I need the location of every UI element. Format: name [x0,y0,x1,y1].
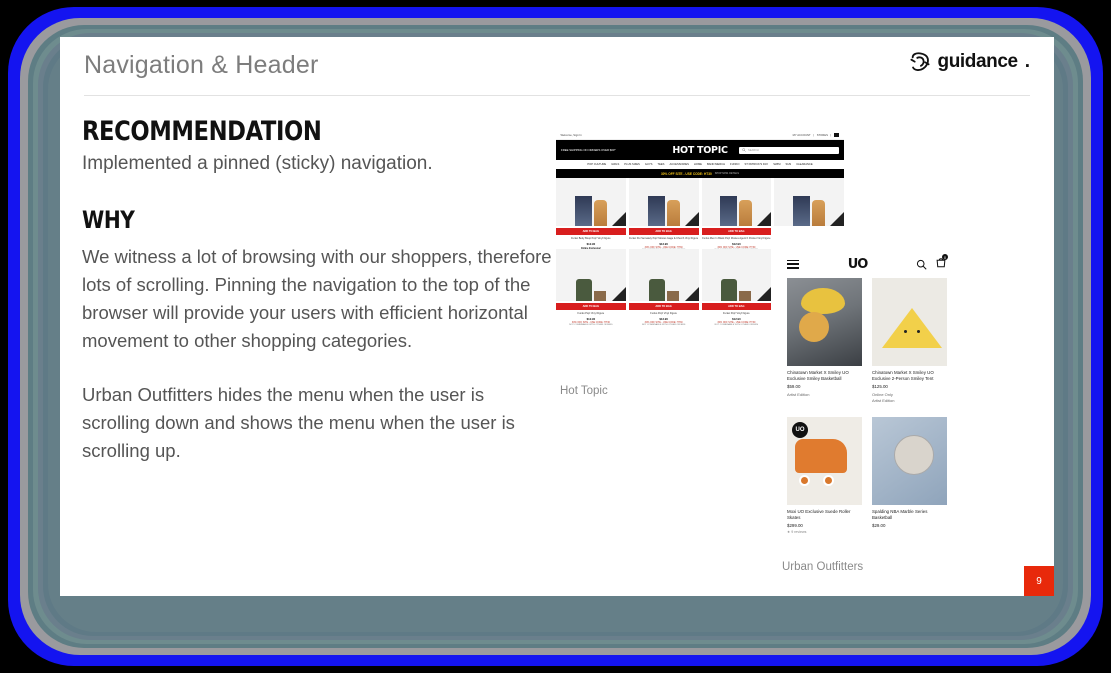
ht-free-shipping-text: FREE SHIPPING ON ORDERS OVER $60* [561,148,616,152]
why-heading: WHY [82,207,477,234]
uo-product-card[interactable]: Spalding NBA Marble Series Basketball $2… [872,417,947,534]
uo-product-name: Chinatown Market X Smiley UO Exclusive 2… [872,370,947,382]
uo-header-actions: 0 [916,255,947,273]
ht-corner-flag-icon [830,212,844,226]
uo-bag-count-badge: 0 [942,254,948,260]
ht-add-to-bag-button[interactable]: ADD TO BAG [556,303,626,310]
caption-hot-topic: Hot Topic [560,385,608,397]
ht-promo-banner[interactable]: 30% OFF SITE - USE CODE: HT30 SHOP NOW. … [556,169,844,178]
ht-add-to-bag-label: ADD TO BAG [655,230,671,233]
uo-product-grid-row-2: UO Moxi UO Exclusive Suede Roller Skates… [778,417,956,534]
ht-promo-details[interactable]: SHOP NOW. DETAILS [715,172,739,175]
ht-nav-item[interactable]: SWIM [773,163,780,166]
recommendation-body: Implemented a pinned (sticky) navigation… [82,151,552,177]
ht-nav-item[interactable]: POP CULTURE [587,163,606,166]
ht-product-name: Funko Men In Black Pop! Movies Agent K P… [702,237,772,240]
ht-search-input[interactable]: SEARCH [739,147,839,154]
ht-nav-item[interactable]: PLUS SIZES [624,163,640,166]
uo-product-tag: Artist Edition [787,392,862,398]
ht-corner-flag-icon [612,212,626,226]
caption-urban-outfitters: Urban Outfitters [782,561,863,573]
guidance-swirl-icon [909,51,931,73]
brand-logo: guidance . [909,51,1031,73]
ht-add-to-bag-label: ADD TO BAG [728,305,744,308]
ht-logo[interactable]: HOT TOPIC [672,145,727,156]
uo-product-name: Chinatown Market X Smiley UO Exclusive S… [787,370,862,382]
header-divider [84,95,1030,96]
ht-product-image [774,178,844,226]
ht-nav-item[interactable]: BAND MERCH [707,163,725,166]
ht-product-name: Funko Pop! Vinyl Figure [556,312,626,315]
uo-product-card[interactable]: Chinatown Market X Smiley UO Exclusive S… [787,278,862,403]
page-number-badge: 9 [1024,566,1054,596]
ht-product-image [702,178,772,226]
uo-product-name: Spalding NBA Marble Series Basketball [872,509,947,521]
ht-my-account-link[interactable]: MY ACCOUNT [792,133,810,136]
uo-product-image [872,417,947,505]
ht-nav-item[interactable]: GUYS [645,163,653,166]
ht-product-card[interactable]: ADD TO BAG Funko Pop! Vinyl Figure $12.9… [702,249,772,326]
uo-product-image: UO [787,417,862,505]
uo-product-price: $59.00 [787,384,862,389]
ht-product-note: NOT COMBINABLE WITH OTHER OFFERS [702,324,772,326]
uo-product-price: $299.00 [787,523,862,528]
ht-nav-item[interactable]: GIRLS [611,163,619,166]
ht-nav-item[interactable]: HOME [694,163,702,166]
uo-product-image [787,278,862,366]
ht-nav-item[interactable]: CLEARANCE [796,163,812,166]
ht-product-card[interactable]: ADD TO BAG Funko Pop! Vinyl Figure $12.9… [629,249,699,326]
ht-search-placeholder: SEARCH [748,149,759,152]
uo-product-card[interactable]: UO Moxi UO Exclusive Suede Roller Skates… [787,417,862,534]
uo-product-price: $125.00 [872,384,947,389]
ht-corner-flag-icon [685,212,699,226]
ht-product-note: NOT COMBINABLE WITH OTHER OFFERS [629,324,699,326]
ht-utility-bar: Welcome, Sign In MY ACCOUNT | STORES | [556,131,844,140]
ht-product-price: $12.90 [556,242,626,246]
uo-product-image [872,278,947,366]
ht-product-card[interactable] [774,178,844,255]
uo-product-reviews: ★ 9 reviews [787,530,862,534]
ht-welcome-text: Welcome, Sign In [560,133,581,136]
ht-product-name: Funko Pet Sematary Pop! Movies Gage & Ch… [629,237,699,240]
ht-product-grid-row-1: ADD TO BAG Funko Betty Boop Pop! Vinyl F… [556,178,844,255]
uo-product-tag: Online Only Artist Edition [872,392,947,403]
urban-outfitters-screenshot: UO 0 [778,250,956,552]
ht-product-image [629,178,699,226]
uo-product-price: $29.00 [872,523,947,528]
page-title: Navigation & Header [84,51,319,80]
copy-column: RECOMMENDATION Implemented a pinned (sti… [82,117,552,465]
recommendation-heading: RECOMMENDATION [82,117,477,147]
ht-product-name: Funko Pop! Vinyl Figure [702,312,772,315]
ht-nav-item[interactable]: ACCESSORIES [669,163,688,166]
ht-add-to-bag-button[interactable]: ADD TO BAG [702,303,772,310]
uo-product-name: Moxi UO Exclusive Suede Roller Skates [787,509,862,521]
ht-masthead: FREE SHIPPING ON ORDERS OVER $60* HOT TO… [556,140,844,160]
ht-product-image [702,249,772,301]
ht-add-to-bag-button[interactable]: ADD TO BAG [629,228,699,235]
screenshot-column: Welcome, Sign In MY ACCOUNT | STORES | F… [556,117,1036,587]
ht-product-note: NOT COMBINABLE WITH OTHER OFFERS [556,324,626,326]
ht-corner-flag-icon [685,287,699,301]
ht-utility-links: MY ACCOUNT | STORES | [793,133,839,137]
why-body-paragraph-1: We witness a lot of browsing with our sh… [82,243,552,355]
search-icon [742,148,746,152]
ht-nav-item[interactable]: SUN [786,163,792,166]
ht-product-card[interactable]: ADD TO BAG Funko Pet Sematary Pop! Movie… [629,178,699,255]
ht-nav-item[interactable]: ST PATRICK'S DAY [744,163,768,166]
ht-add-to-bag-button[interactable]: ADD TO BAG [702,228,772,235]
ht-product-name: Funko Betty Boop Pop! Vinyl Figure [556,237,626,240]
ht-product-image [629,249,699,301]
search-icon[interactable] [916,259,927,270]
uo-brand-badge-icon: UO [792,422,808,438]
ht-corner-flag-icon [757,212,771,226]
uo-product-card[interactable]: Chinatown Market X Smiley UO Exclusive 2… [872,278,947,403]
ht-add-to-bag-button[interactable]: ADD TO BAG [629,303,699,310]
ht-add-to-bag-label: ADD TO BAG [728,230,744,233]
ht-corner-flag-icon [612,287,626,301]
brand-name: guidance [938,51,1018,73]
ht-corner-flag-icon [757,287,771,301]
ht-product-image [556,178,626,226]
hamburger-menu-icon[interactable] [787,260,799,269]
ht-product-card[interactable]: ADD TO BAG Funko Men In Black Pop! Movie… [702,178,772,255]
ht-product-card[interactable]: ADD TO BAG Funko Pop! Vinyl Figure $12.9… [556,249,626,326]
uo-product-grid-row-1: Chinatown Market X Smiley UO Exclusive S… [778,278,956,403]
ht-add-to-bag-label: ADD TO BAG [583,230,599,233]
uo-logo[interactable]: UO [848,257,868,272]
ht-stores-link[interactable]: STORES [816,133,827,136]
ht-add-to-bag-button[interactable]: ADD TO BAG [556,228,626,235]
why-body-paragraph-2: Urban Outfitters hides the menu when the… [82,381,552,465]
ht-add-to-bag-label: ADD TO BAG [583,305,599,308]
slide-header: Navigation & Header guidance . [60,37,1054,98]
ht-promo-headline: 30% OFF SITE - USE CODE: HT30 [661,172,712,176]
page-number: 9 [1036,576,1042,587]
ht-nav-item[interactable]: FUNKO [730,163,739,166]
ht-cart-icon[interactable] [834,133,839,137]
ht-separator-1: | [813,133,814,136]
ht-product-image [556,249,626,301]
uo-sticky-header: UO 0 [778,250,956,278]
ht-add-to-bag-label: ADD TO BAG [655,305,671,308]
ht-separator-2: | [830,133,831,136]
uo-bag-wrapper[interactable]: 0 [935,255,947,273]
ht-product-card[interactable]: ADD TO BAG Funko Betty Boop Pop! Vinyl F… [556,178,626,255]
ht-nav-item[interactable]: TEES [657,163,664,166]
ht-product-name: Funko Pop! Vinyl Figure [629,312,699,315]
brand-period: . [1025,51,1030,73]
ht-primary-nav[interactable]: POP CULTURE GIRLS PLUS SIZES GUYS TEES A… [556,160,844,169]
presentation-slide: Navigation & Header guidance . RECOMMEND… [60,37,1054,596]
